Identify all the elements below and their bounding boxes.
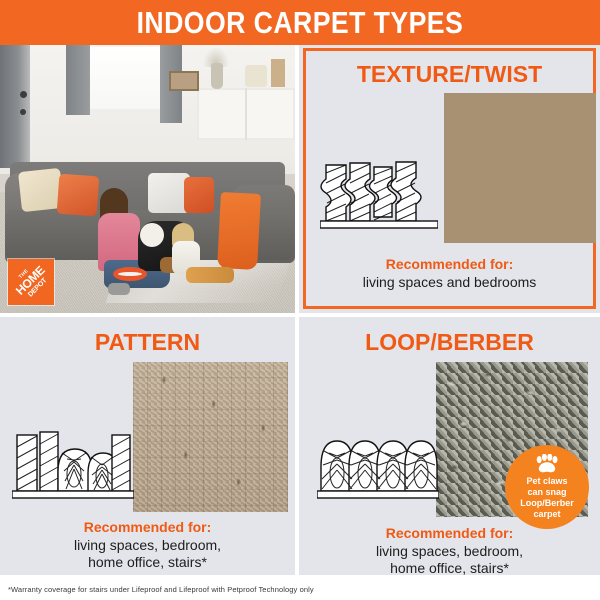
- panel-pattern: PATTERN: [0, 317, 295, 575]
- photo-vase: [211, 63, 223, 89]
- photo-dog-toy: [113, 267, 147, 281]
- pet-badge-text: Pet claws can snag Loop/Berber carpet: [520, 476, 574, 520]
- panel-title-texture-twist: TEXTURE/TWIST: [306, 61, 593, 88]
- infographic-root: INDOOR CARPET TYPES: [0, 0, 600, 600]
- pattern-carpet-swatch: [133, 362, 288, 512]
- photo-pillow-orange-right: [184, 177, 214, 213]
- hero-photo-panel: THE HOME DEPOT: [0, 45, 295, 313]
- pattern-pile-diagram: [12, 429, 134, 501]
- photo-decor-box: [271, 59, 285, 87]
- panel-texture-twist: TEXTURE/TWIST: [299, 45, 600, 313]
- recommended-heading: Recommended for:: [306, 256, 593, 274]
- photo-child-legs: [186, 267, 234, 283]
- header-banner: INDOOR CARPET TYPES: [0, 0, 600, 45]
- photo-picture-frame: [169, 71, 199, 91]
- photo-pillow-orange: [57, 174, 100, 217]
- recommended-text: living spaces and bedrooms: [306, 274, 593, 292]
- panel-title-pattern: PATTERN: [0, 329, 295, 356]
- photo-dog-face: [140, 223, 164, 247]
- photo-lamp: [245, 65, 267, 87]
- living-room-carpet-photo: THE HOME DEPOT: [0, 45, 295, 313]
- photo-orange-throw-blanket: [217, 192, 261, 270]
- pet-claws-warning-badge: Pet claws can snag Loop/Berber carpet: [505, 445, 589, 529]
- footnote-warranty: *Warranty coverage for stairs under Life…: [8, 585, 314, 594]
- recommended-text: living spaces, bedroom, home office, sta…: [0, 537, 295, 572]
- panel-title-loop-berber: LOOP/BERBER: [299, 329, 600, 356]
- panel-loop-berber: LOOP/BERBER: [299, 317, 600, 575]
- texture-twist-carpet-swatch: [444, 93, 596, 243]
- panel-texture-twist-border: TEXTURE/TWIST: [303, 48, 596, 309]
- recommendation-loop-berber: Recommended for: living spaces, bedroom,…: [299, 525, 600, 575]
- photo-curtain-left: [66, 45, 90, 115]
- recommendation-pattern: Recommended for: living spaces, bedroom,…: [0, 519, 295, 572]
- texture-twist-pile-diagram: [320, 159, 438, 231]
- recommended-heading: Recommended for:: [299, 525, 600, 543]
- photo-door: [0, 45, 30, 168]
- photo-woman-shoe: [108, 283, 130, 295]
- home-depot-logo: THE HOME DEPOT: [8, 259, 54, 305]
- loop-berber-pile-diagram: [317, 429, 439, 501]
- photo-door-hinge-top: [20, 91, 27, 98]
- recommendation-texture-twist: Recommended for: living spaces and bedro…: [306, 256, 593, 291]
- paw-print-icon: [534, 454, 560, 474]
- recommended-heading: Recommended for:: [0, 519, 295, 537]
- recommended-text: living spaces, bedroom, home office, sta…: [299, 543, 600, 576]
- page-title: INDOOR CARPET TYPES: [137, 7, 464, 38]
- photo-shelf-divider: [245, 88, 247, 140]
